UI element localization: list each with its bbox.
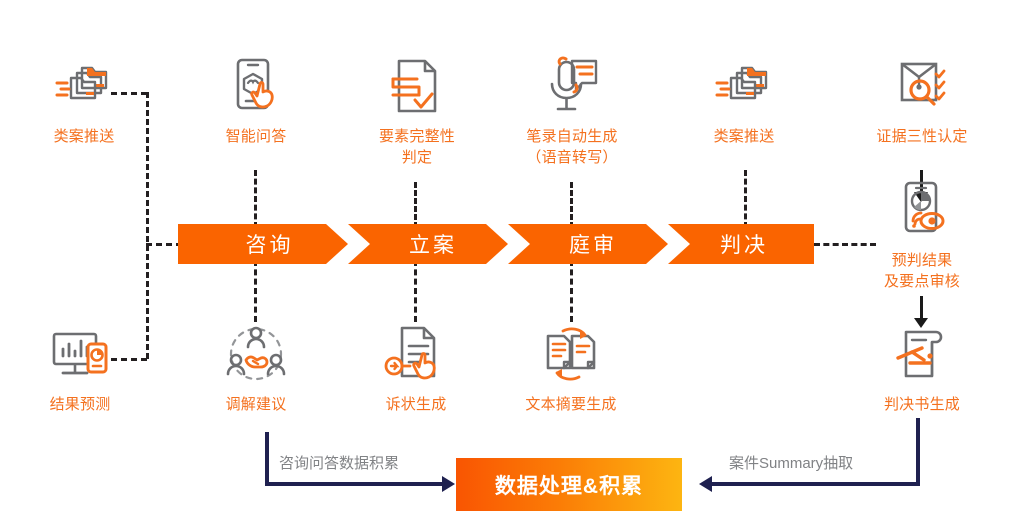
phone-pie-eye-icon	[890, 178, 954, 242]
node-verdict-document-generation[interactable]: 判决书生成	[862, 322, 982, 415]
verdict-gavel-scroll-icon	[890, 322, 954, 386]
dashed-connector-stage2-up	[414, 182, 417, 228]
process-stage-bar: 咨询 立案 庭审 判决	[178, 224, 814, 264]
dashed-connector-stage3-down	[570, 260, 573, 322]
loop-left-horizontal	[265, 482, 443, 486]
loop-left-vertical	[265, 432, 269, 485]
two-docs-sync-icon	[539, 322, 603, 386]
dashed-connector-stage1-down	[254, 260, 257, 322]
node-label: 预判结果 及要点审核	[884, 250, 960, 292]
process-stage-3-label: 庭审	[569, 229, 617, 259]
document-check-icon	[385, 54, 449, 118]
node-label: 证据三性认定	[876, 126, 967, 147]
folder-stack-push-icon	[52, 54, 116, 118]
dashed-connector-stage4-up	[744, 170, 747, 228]
data-processing-label: 数据处理&积累	[495, 470, 643, 500]
loop-left-label: 咨询问答数据积累	[279, 452, 399, 473]
monitor-chart-icon	[48, 322, 112, 386]
dashed-connector-stage3-up	[570, 182, 573, 228]
dashed-connector-left-spine	[146, 92, 149, 359]
node-label: 结果预测	[50, 394, 111, 415]
node-label: 笔录自动生成 （语音转写）	[526, 126, 617, 168]
microphone-speech-icon	[540, 54, 604, 118]
process-stage-2-label: 立案	[409, 229, 457, 259]
loop-right-vertical	[916, 418, 920, 485]
loop-right-arrowhead-icon	[699, 476, 712, 492]
node-evidence-three-properties[interactable]: 证据三性认定	[862, 54, 982, 147]
complaint-doc-tap-icon	[384, 322, 448, 386]
diagram-canvas: 咨询 立案 庭审 判决	[0, 0, 1025, 528]
node-label: 诉状生成	[386, 394, 447, 415]
node-label: 调解建议	[226, 394, 287, 415]
evidence-magnifier-icon	[890, 54, 954, 118]
node-bottom-complaint-generation[interactable]: 诉状生成	[364, 322, 468, 415]
node-prejudgment-result-review[interactable]: 预判结果 及要点审核	[862, 178, 982, 292]
loop-right-label: 案件Summary抽取	[729, 452, 853, 473]
phone-tap-qa-icon	[224, 54, 288, 118]
node-label: 要素完整性 判定	[379, 126, 455, 168]
node-label: 判决书生成	[884, 394, 960, 415]
folder-stack-push-icon	[712, 54, 776, 118]
process-stage-4-label: 判决	[720, 229, 768, 259]
chevron-notch-3-icon	[646, 224, 690, 264]
loop-right-horizontal	[712, 482, 920, 486]
node-bottom-text-summary-generation[interactable]: 文本摘要生成	[512, 322, 630, 415]
node-bottom-result-prediction[interactable]: 结果预测	[24, 322, 136, 415]
node-top-intelligent-qa[interactable]: 智能问答	[204, 54, 308, 147]
mediation-handshake-icon	[224, 322, 288, 386]
loop-left-arrowhead-icon	[442, 476, 455, 492]
node-label: 智能问答	[226, 126, 287, 147]
node-top-similar-case-push-left[interactable]: 类案推送	[32, 54, 136, 147]
node-top-transcript-auto-generate[interactable]: 笔录自动生成 （语音转写）	[510, 54, 634, 168]
node-top-similar-case-push-right[interactable]: 类案推送	[692, 54, 796, 147]
process-stage-1-label: 咨询	[246, 229, 294, 259]
dashed-connector-stage1-up	[254, 170, 257, 228]
chevron-notch-1-icon	[326, 224, 370, 264]
node-label: 类案推送	[54, 126, 115, 147]
data-processing-box[interactable]: 数据处理&积累	[456, 458, 682, 511]
node-label: 类案推送	[714, 126, 775, 147]
dashed-connector-stage2-down	[414, 260, 417, 322]
chevron-notch-2-icon	[486, 224, 530, 264]
node-bottom-mediation-advice[interactable]: 调解建议	[204, 322, 308, 415]
node-top-element-completeness[interactable]: 要素完整性 判定	[362, 54, 472, 168]
dashed-connector-left-to-bar	[146, 243, 182, 246]
node-label: 文本摘要生成	[525, 394, 616, 415]
